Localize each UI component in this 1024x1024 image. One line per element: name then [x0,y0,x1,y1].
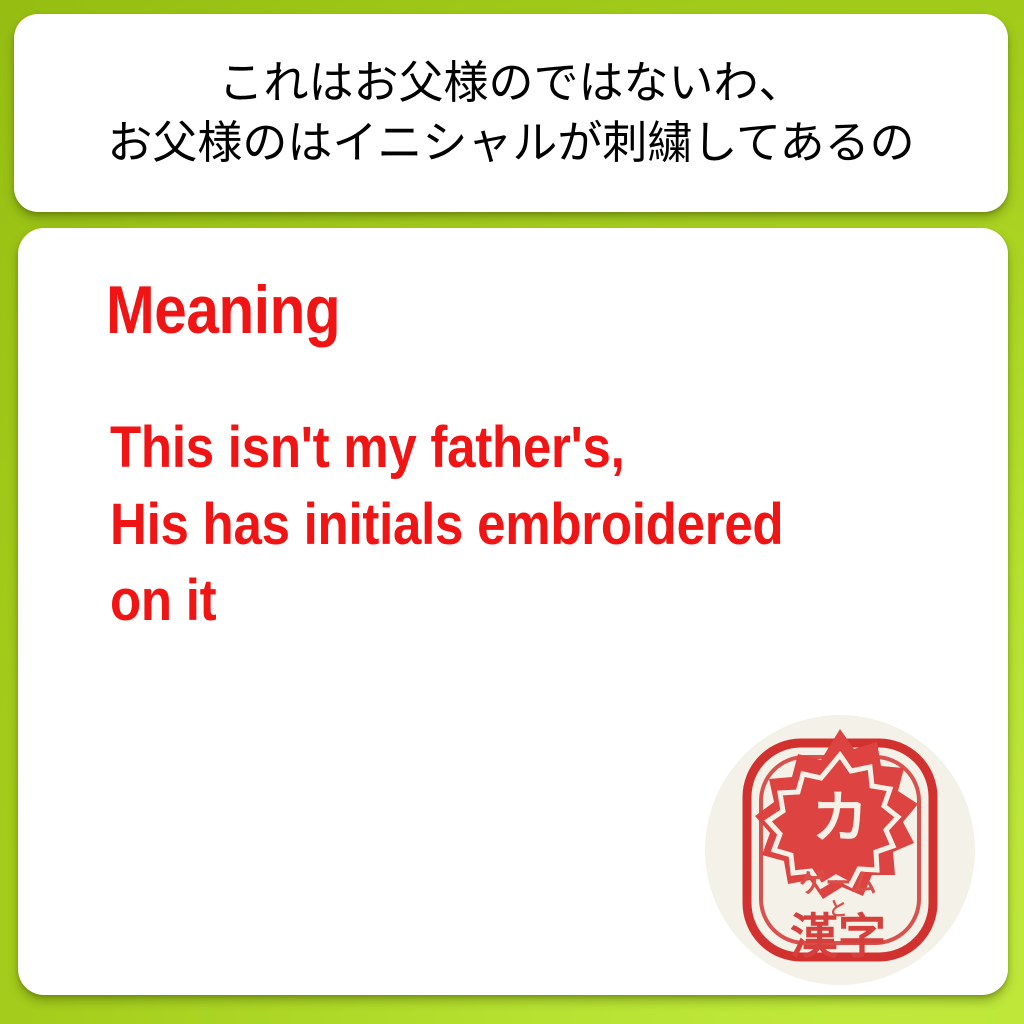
japanese-sentence-card: これはお父様のではないわ、 お父様のはイニシャルが刺繍してあるの [14,14,1008,212]
logo-text-game: ゲーム [799,869,876,899]
brand-logo: カ ゲーム と 漢字 [705,715,975,985]
japanese-sentence-text: これはお父様のではないわ、 お父様のはイニシャルが刺繍してあるの [97,53,924,174]
meaning-translation-text: This isn't my father's, His has initials… [110,410,840,640]
page-canvas: これはお父様のではないわ、 お父様のはイニシャルが刺繍してあるの Meaning… [0,0,1024,1024]
logo-emblem-char: カ [812,786,868,851]
logo-text-kanji: 漢字 [790,909,886,965]
meaning-heading: Meaning [106,276,340,344]
meaning-card: Meaning This isn't my father's, His has … [18,228,1008,995]
